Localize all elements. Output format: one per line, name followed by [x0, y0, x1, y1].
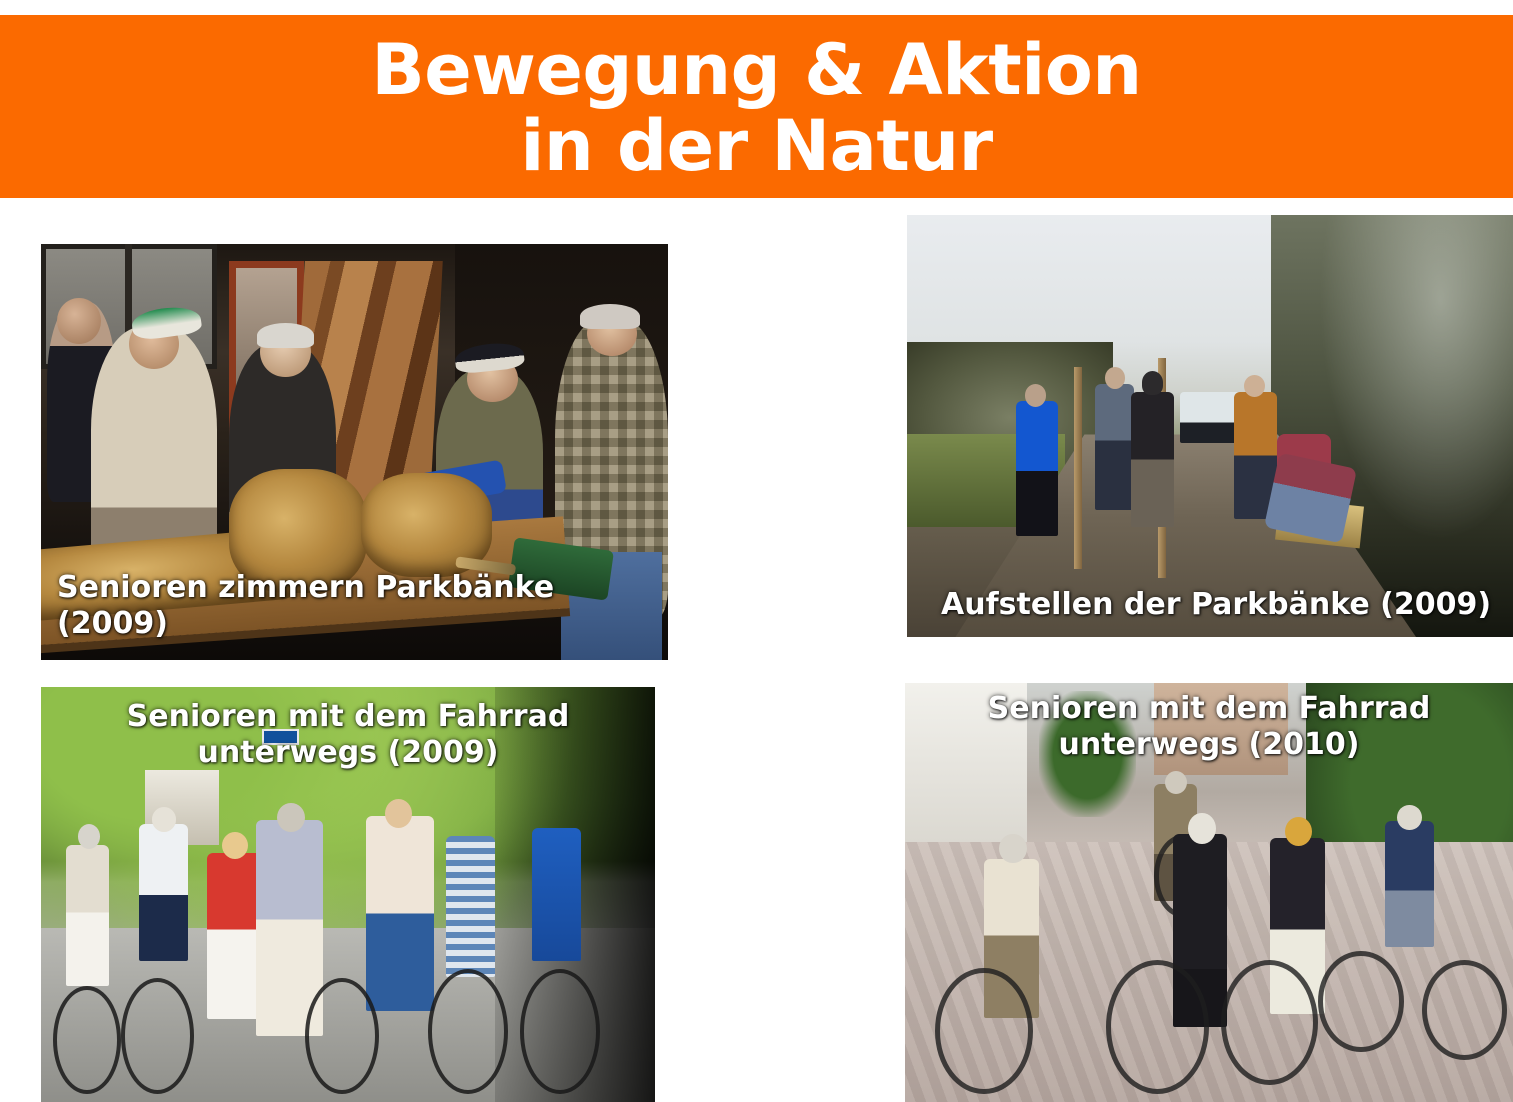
person-hair	[257, 323, 313, 348]
person-figure	[446, 836, 495, 977]
slide-title-line-2: in der Natur	[520, 109, 992, 185]
bicycle-wheel	[121, 978, 195, 1094]
wooden-post	[1074, 367, 1082, 570]
person-head	[222, 832, 248, 859]
photo-caption: Senioren zimmern Parkbänke (2009)	[41, 570, 668, 642]
bicycle-wheel	[1422, 960, 1507, 1061]
person-figure-seated	[1264, 452, 1357, 543]
person-head	[78, 824, 100, 849]
person-figure	[1016, 401, 1058, 536]
photo-caption: Aufstellen der Parkbänke (2009)	[907, 587, 1513, 623]
bicycle-wheel	[1318, 951, 1403, 1052]
field-path-scene	[907, 215, 1513, 637]
photo-caption: Senioren mit dem Fahrrad unterwegs (2009…	[41, 699, 655, 771]
person-figure	[66, 845, 109, 986]
bicycle-wheel	[53, 986, 121, 1094]
person-head	[1165, 771, 1187, 794]
person-figure	[207, 853, 262, 1019]
person-figure	[1095, 384, 1134, 511]
bicycle-wheel	[935, 968, 1032, 1094]
person-figure	[366, 816, 434, 1011]
bicycle-wheel	[1106, 960, 1209, 1094]
person-head	[152, 807, 177, 832]
bicycle-wheel	[305, 978, 379, 1094]
person-head	[1142, 371, 1164, 395]
photo-senioren-fahrrad-2010[interactable]: Senioren mit dem Fahrrad unterwegs (2010…	[905, 683, 1513, 1102]
person-head	[1285, 817, 1312, 846]
bicycle-wheel	[520, 969, 600, 1094]
person-head	[385, 799, 412, 828]
photo-senioren-fahrrad-2009[interactable]: Senioren mit dem Fahrrad unterwegs (2009…	[41, 687, 655, 1102]
person-head	[1244, 375, 1265, 397]
person-figure	[1131, 392, 1173, 527]
photo-senioren-zimmern-parkbaenke[interactable]: Senioren zimmern Parkbänke (2009)	[41, 244, 668, 660]
person-head	[999, 834, 1026, 863]
person-head	[1025, 384, 1047, 407]
person-hair	[580, 304, 640, 329]
title-banner: Bewegung & Aktion in der Natur	[0, 15, 1513, 198]
presentation-slide: Bewegung & Aktion in der Natur	[0, 0, 1513, 1102]
person-head	[1397, 805, 1421, 830]
person-head	[57, 298, 101, 344]
photo-caption: Senioren mit dem Fahrrad unterwegs (2010…	[905, 691, 1513, 763]
photo-aufstellen-der-parkbaenke[interactable]: Aufstellen der Parkbänke (2009)	[907, 215, 1513, 637]
bicycle-wheel	[428, 969, 508, 1094]
person-figure	[532, 828, 581, 961]
bicycle-wheel	[1221, 960, 1318, 1086]
person-head	[1188, 813, 1216, 844]
person-head	[1105, 367, 1126, 389]
person-figure	[139, 824, 188, 961]
slide-title-line-1: Bewegung & Aktion	[371, 33, 1141, 109]
person-figure	[1385, 821, 1434, 947]
